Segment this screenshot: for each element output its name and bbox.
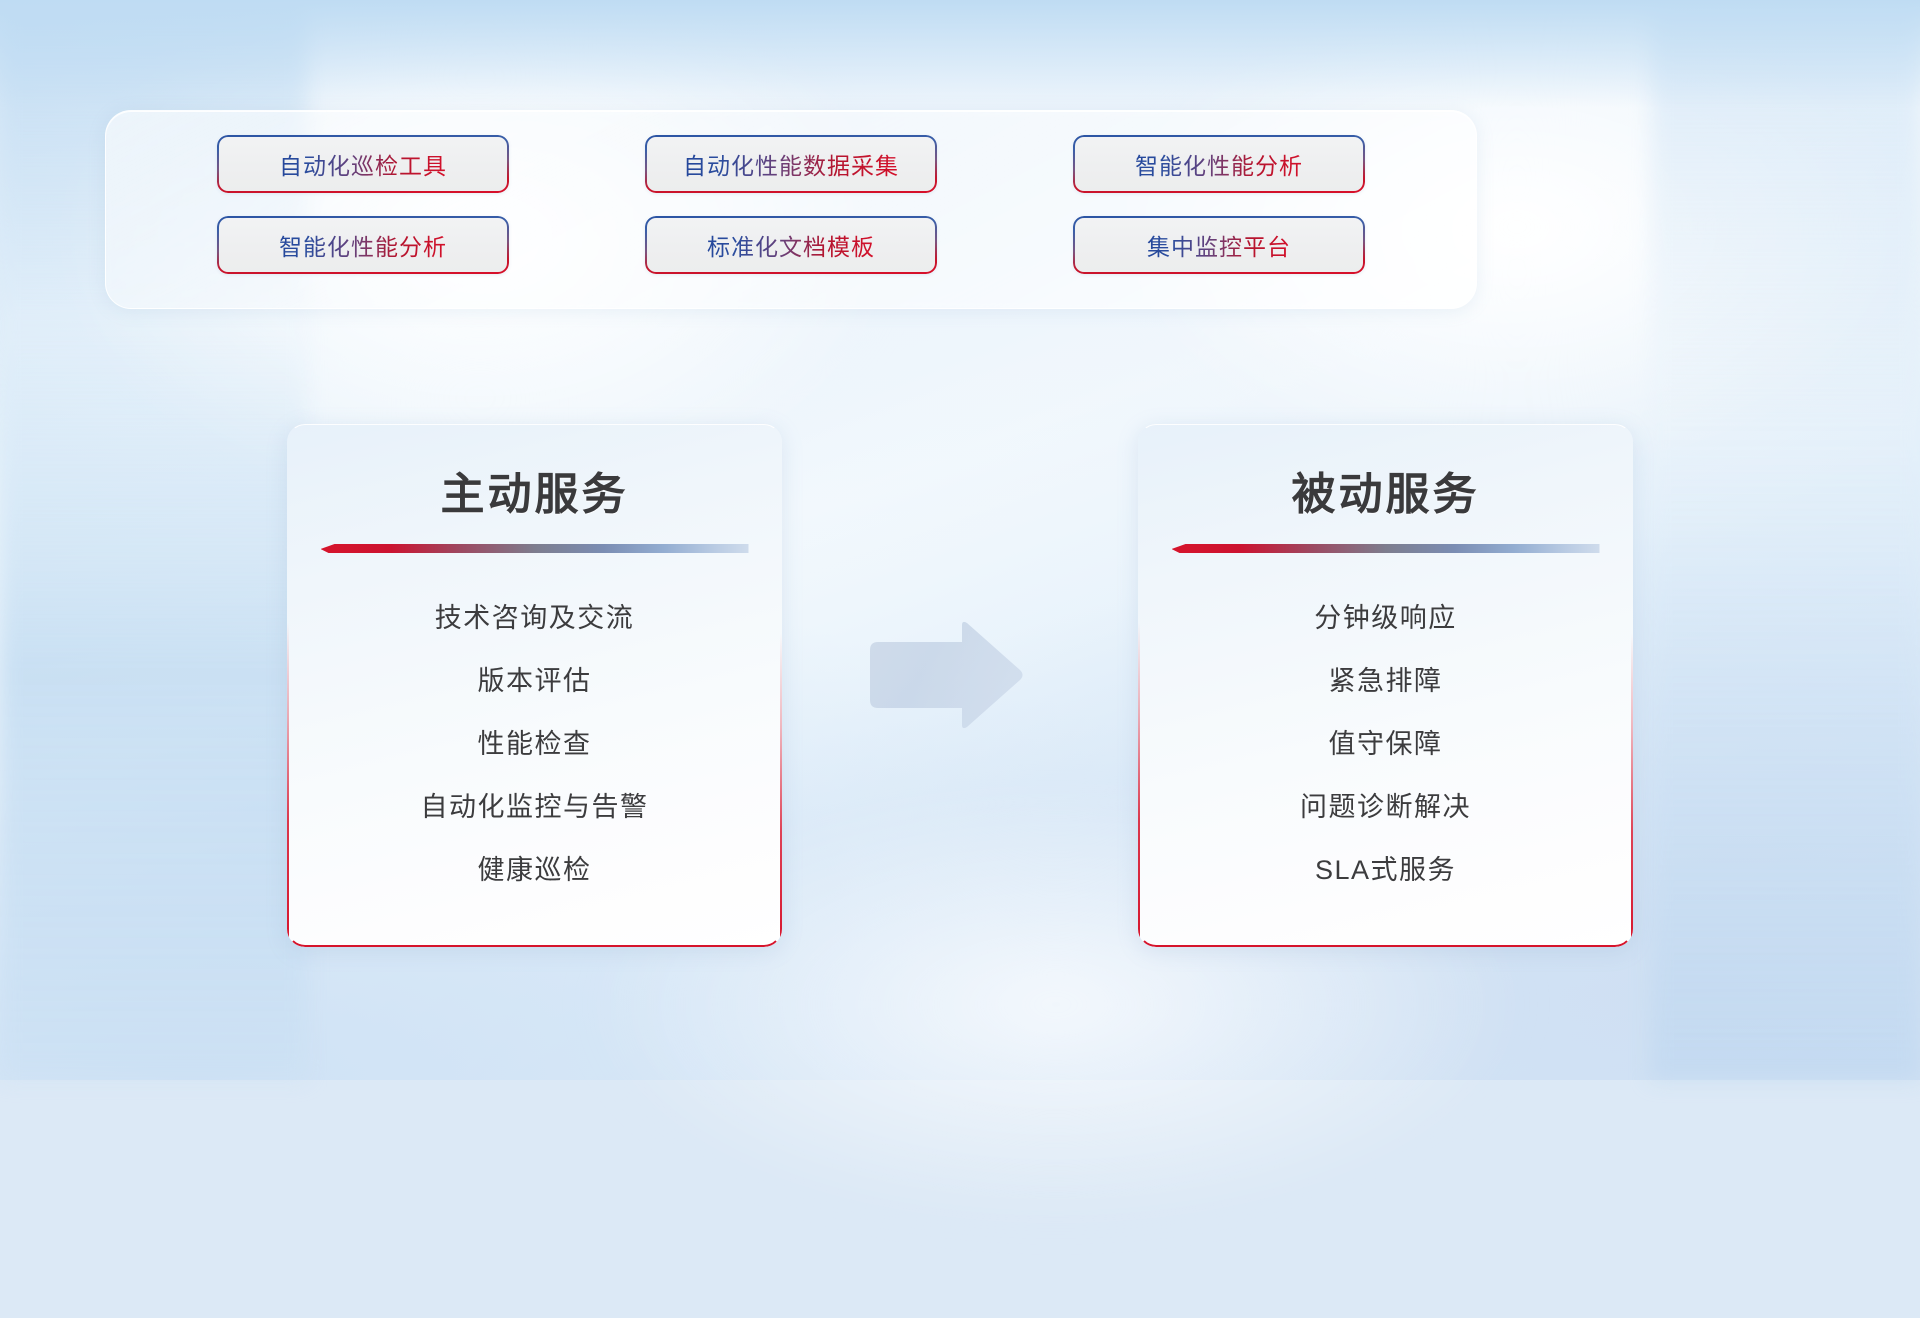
capability-tag[interactable]: 智能化性能分析 (217, 216, 509, 274)
service-item: 性能检查 (287, 713, 782, 776)
capability-tag[interactable]: 标准化文档模板 (645, 216, 937, 274)
service-item: 健康巡检 (287, 839, 782, 902)
card-edge-right (780, 424, 782, 947)
card-edge-right (1631, 424, 1633, 947)
card-title: 主动服务 (287, 458, 782, 522)
capability-tag[interactable]: 集中监控平台 (1073, 216, 1365, 274)
service-item-list: 分钟级响应 紧急排障 值守保障 问题诊断解决 SLA式服务 (1138, 587, 1633, 902)
service-card-reactive: 被动服务 分钟级响应 紧急排障 值守保障 问题诊断解决 SLA式服务 (1138, 424, 1633, 947)
capability-tag-label: 智能化性能分析 (279, 228, 447, 262)
capability-tag[interactable]: 智能化性能分析 (1073, 135, 1365, 193)
service-item: 值守保障 (1138, 713, 1633, 776)
arrow-right-icon (866, 620, 1026, 730)
capability-tag[interactable]: 自动化巡检工具 (217, 135, 509, 193)
service-item: 分钟级响应 (1138, 587, 1633, 650)
capability-tag-label: 智能化性能分析 (1135, 147, 1303, 181)
capability-tag[interactable]: 自动化性能数据采集 (645, 135, 937, 193)
background-sheen-right (1651, 0, 1920, 1080)
background-band-top (0, 0, 1920, 108)
service-item: 版本评估 (287, 650, 782, 713)
card-edge-left (287, 424, 289, 947)
service-item-list: 技术咨询及交流 版本评估 性能检查 自动化监控与告警 健康巡检 (287, 587, 782, 902)
capability-tag-label: 自动化性能数据采集 (683, 147, 899, 181)
service-item: 问题诊断解决 (1138, 776, 1633, 839)
service-item: SLA式服务 (1138, 839, 1633, 902)
service-item: 技术咨询及交流 (287, 587, 782, 650)
service-card-proactive: 主动服务 技术咨询及交流 版本评估 性能检查 自动化监控与告警 健康巡检 (287, 424, 782, 947)
service-item: 自动化监控与告警 (287, 776, 782, 839)
card-title: 被动服务 (1138, 458, 1633, 522)
card-divider (1172, 544, 1600, 553)
card-edge-left (1138, 424, 1140, 947)
service-item: 紧急排障 (1138, 650, 1633, 713)
capability-tag-label: 自动化巡检工具 (279, 147, 447, 181)
capability-tag-label: 集中监控平台 (1147, 228, 1291, 262)
capability-tag-panel: 自动化巡检工具 自动化性能数据采集 智能化性能分析 智能化性能分析 标准化文档模… (105, 110, 1477, 309)
capability-tag-label: 标准化文档模板 (707, 228, 875, 262)
card-divider (321, 544, 749, 553)
